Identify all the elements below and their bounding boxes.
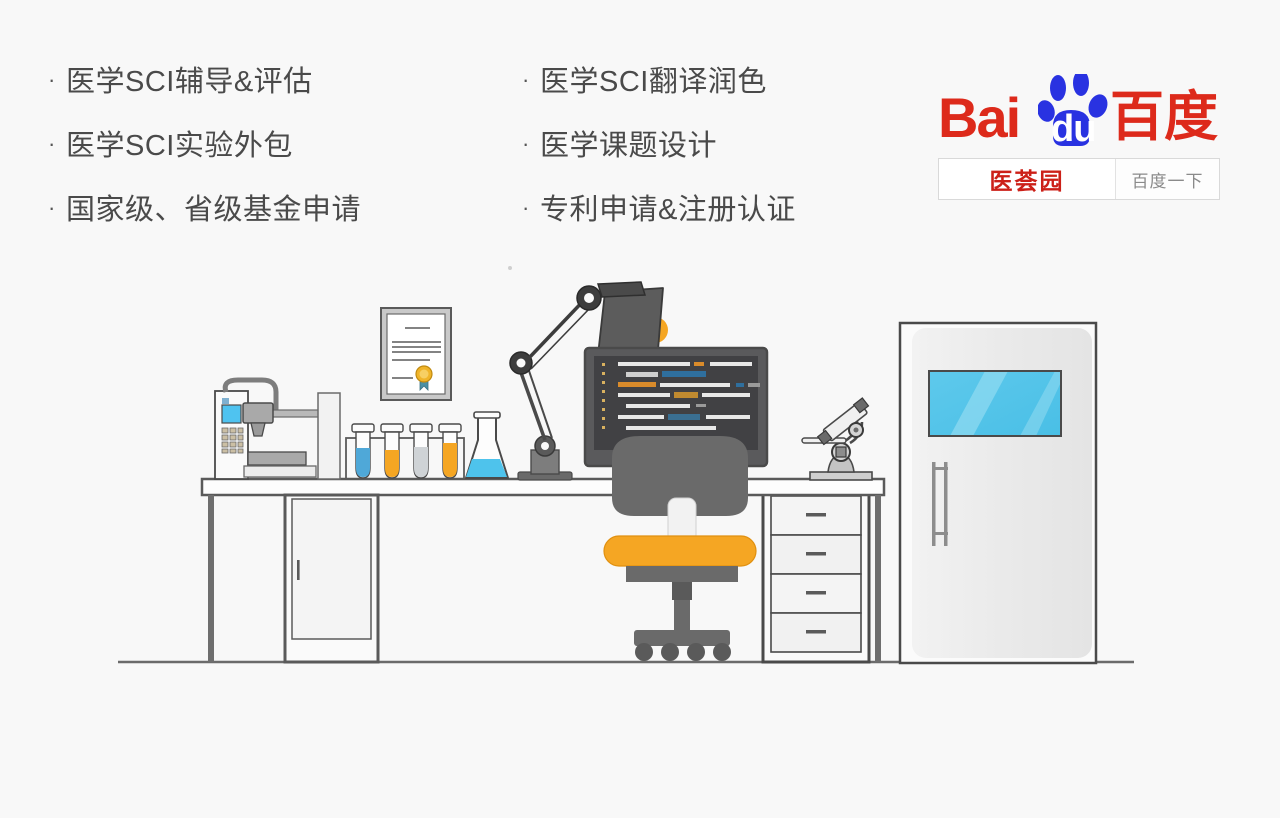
service-item: · 医学SCI翻译润色 xyxy=(522,58,796,122)
baidu-search-bar: 医荟园 百度一下 xyxy=(938,158,1220,200)
test-tube-rack xyxy=(346,424,464,479)
service-item: · 医学SCI实验外包 xyxy=(48,122,361,186)
baidu-search-widget: Bai du 百度 医荟园 百度一下 xyxy=(938,82,1220,200)
service-list-right: · 医学SCI翻译润色 · 医学课题设计 · 专利申请&注册认证 xyxy=(522,58,796,250)
service-list-left: · 医学SCI辅导&评估 · 医学SCI实验外包 · 国家级、省级基金申请 xyxy=(48,58,361,250)
test-tube xyxy=(410,424,432,478)
service-item: · 医学SCI辅导&评估 xyxy=(48,58,361,122)
bullet-icon: · xyxy=(48,197,66,219)
advertisement-banner: · 医学SCI辅导&评估 · 医学SCI实验外包 · 国家级、省级基金申请 · … xyxy=(0,0,1280,818)
search-input[interactable]: 医荟园 xyxy=(939,159,1115,199)
baidu-logo-du: du xyxy=(1051,108,1095,151)
service-label: 医学课题设计 xyxy=(540,122,717,164)
refrigerator xyxy=(900,323,1096,663)
microscope xyxy=(802,398,872,480)
footer-branding: 医荟园 yhysci.com 专业SCI科研协助平台 xyxy=(0,672,1280,818)
test-tube xyxy=(352,424,374,478)
bullet-icon: · xyxy=(522,69,540,91)
laboratory-illustration xyxy=(0,240,1280,670)
drawer-handle xyxy=(806,513,826,517)
decor-speck xyxy=(508,266,512,270)
bullet-icon: · xyxy=(48,69,66,91)
test-tube xyxy=(439,424,461,478)
lab-dispenser xyxy=(215,380,340,479)
service-label: 医学SCI翻译润色 xyxy=(540,58,767,100)
office-chair xyxy=(604,436,756,661)
baidu-logo: Bai du 百度 xyxy=(938,82,1220,150)
erlenmeyer-flask xyxy=(466,412,508,478)
drawer-handle xyxy=(806,591,826,595)
service-item: · 医学课题设计 xyxy=(522,122,796,186)
service-label: 国家级、省级基金申请 xyxy=(66,186,361,228)
cabinet-handle xyxy=(297,560,300,580)
drawer-cabinet xyxy=(763,492,869,662)
service-label: 医学SCI实验外包 xyxy=(66,122,293,164)
baidu-logo-bai: Bai xyxy=(938,90,1019,146)
drawer-handle xyxy=(806,630,826,634)
service-label: 医学SCI辅导&评估 xyxy=(66,58,313,100)
bullet-icon: · xyxy=(522,133,540,155)
certificate-frame xyxy=(381,308,451,400)
bullet-icon: · xyxy=(522,197,540,219)
service-label: 专利申请&注册认证 xyxy=(540,186,796,228)
drawer-handle xyxy=(806,552,826,556)
baidu-logo-cn: 百度 xyxy=(1110,90,1218,144)
bullet-icon: · xyxy=(48,133,66,155)
test-tube xyxy=(381,424,403,478)
search-button[interactable]: 百度一下 xyxy=(1115,159,1219,199)
